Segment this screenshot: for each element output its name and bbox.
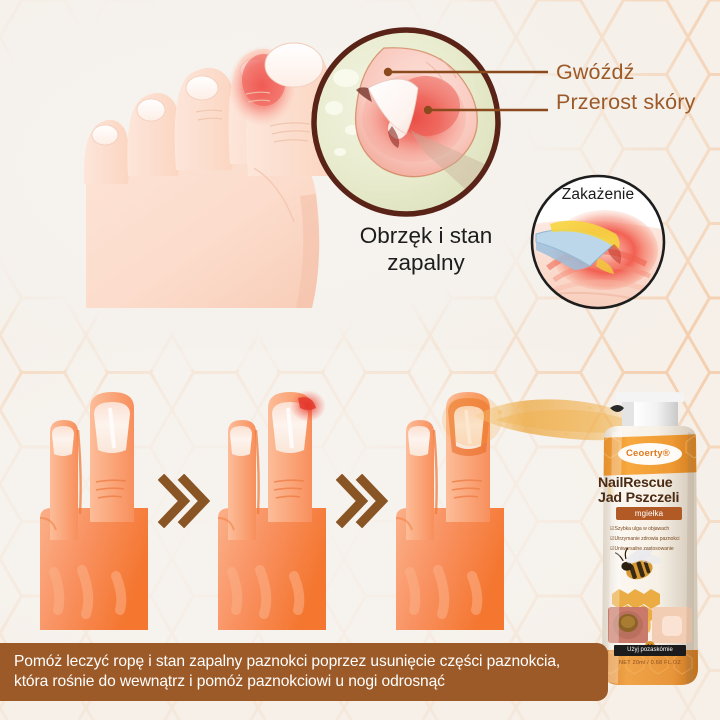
swelling-label: Obrzęk i stan zapalny	[318, 222, 534, 277]
banner-text: Pomóż leczyć ropę i stan zapalny paznokc…	[0, 652, 608, 693]
callout-group: Gwóźdź Przerost skóry	[0, 0, 720, 360]
bottle-usage-label: Użyj pozaskórnie	[614, 645, 686, 656]
bottle-benefit-1: ☑Szybka ulga w objawach	[610, 525, 702, 535]
callout-label-nail: Gwóźdź	[556, 60, 635, 85]
bottle-net-contents: NET 20ml / 0.68 FL.OZ	[602, 660, 698, 666]
progression-arrow-1	[158, 474, 210, 533]
bottle-name-line1: NailRescue	[598, 476, 702, 491]
product-bottle: Ceoerty® NailRescue Jad Pszczeli mgiełka…	[588, 392, 712, 692]
bottle-brand: Ceoerty®	[610, 448, 686, 459]
progression-step-2	[208, 390, 338, 635]
swelling-label-line1: Obrzęk i stan	[318, 222, 534, 249]
bottle-benefit-2: ☑Utrzymanie zdrowia paznokci	[610, 535, 702, 545]
swelling-label-line2: zapalny	[318, 249, 534, 276]
bottom-banner: Pomóż leczyć ropę i stan zapalny paznokc…	[0, 643, 608, 701]
progression-step-1	[30, 390, 160, 635]
progression-arrow-2	[336, 474, 388, 533]
product-poster: Zakażenie Gwóźdź Przerost skóry Obrzęk i…	[0, 0, 720, 720]
bottle-product-name: NailRescue Jad Pszczeli	[598, 476, 702, 506]
bottle-name-line2: Jad Pszczeli	[598, 491, 702, 506]
bottle-benefit-3: ☑Uniwersalne zastosowanie	[610, 545, 702, 555]
bottle-form-label: mgiełka	[616, 507, 682, 520]
bottle-benefits-list: ☑Szybka ulga w objawach ☑Utrzymanie zdro…	[610, 525, 702, 555]
callout-label-skin-overgrowth: Przerost skóry	[556, 90, 696, 115]
